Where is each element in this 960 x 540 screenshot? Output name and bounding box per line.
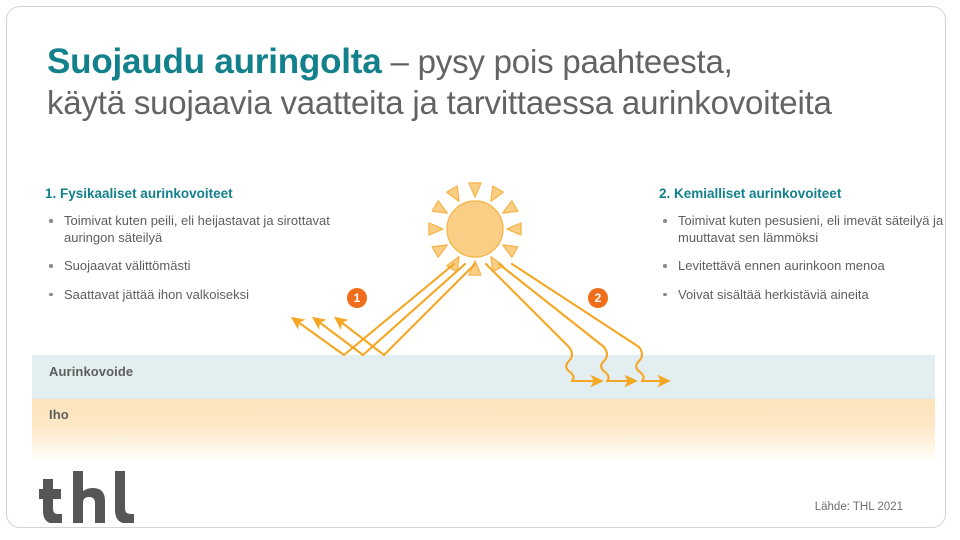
list-item: Saattavat jättää ihon valkoiseksi bbox=[45, 287, 330, 304]
list-item: Toimivat kuten peili, eli heijastavat ja… bbox=[45, 213, 330, 246]
reflected-ray-left-3 bbox=[341, 322, 384, 355]
reflected-ray-left-1 bbox=[298, 322, 344, 355]
incident-ray-right-3 bbox=[512, 264, 639, 347]
title-emphasis: Suojaudu auringolta bbox=[47, 42, 382, 81]
column-right-bullet-list: Toimivat kuten pesusieni, eli imevät sät… bbox=[659, 213, 944, 303]
skin-layer-label: Iho bbox=[49, 407, 69, 422]
title-remainder: – pysy pois paahteesta, bbox=[382, 43, 733, 80]
title-line-2: käytä suojaavia vaatteita ja tarvittaess… bbox=[47, 82, 927, 123]
incident-ray-left-1 bbox=[344, 264, 454, 355]
column-chemical-sunscreens: 2. Kemialliset aurinkovoiteet Toimivat k… bbox=[659, 185, 944, 315]
sunscreen-layer-label: Aurinkovoide bbox=[49, 364, 133, 379]
page-title: Suojaudu auringolta – pysy pois paahtees… bbox=[47, 41, 927, 123]
list-item: Voivat sisältää herkistäviä aineita bbox=[659, 287, 944, 304]
sun-icon bbox=[429, 183, 521, 275]
card-content-area: Suojaudu auringolta – pysy pois paahtees… bbox=[7, 7, 945, 527]
thl-logo bbox=[39, 469, 149, 523]
title-line-1: Suojaudu auringolta – pysy pois paahtees… bbox=[47, 41, 927, 82]
badge-number-1: 1 bbox=[347, 288, 367, 308]
infographic-canvas: Suojaudu auringolta – pysy pois paahtees… bbox=[0, 0, 960, 540]
incident-ray-right-1 bbox=[486, 264, 569, 347]
sunscreen-layer-band bbox=[32, 355, 935, 399]
incident-ray-left-3 bbox=[384, 264, 475, 355]
reflected-ray-left-2 bbox=[319, 322, 363, 355]
list-item: Levitettävä ennen aurinkoon menoa bbox=[659, 258, 944, 275]
incident-ray-left-2 bbox=[363, 264, 465, 355]
column-right-heading: 2. Kemialliset aurinkovoiteet bbox=[659, 185, 944, 203]
source-credit: Lähde: THL 2021 bbox=[815, 501, 903, 513]
list-item: Toimivat kuten pesusieni, eli imevät sät… bbox=[659, 213, 944, 246]
badge-number-2: 2 bbox=[588, 288, 608, 308]
incident-ray-right-2 bbox=[499, 264, 604, 347]
column-physical-sunscreens: 1. Fysikaaliset aurinkovoiteet Toimivat … bbox=[45, 185, 330, 315]
column-left-heading: 1. Fysikaaliset aurinkovoiteet bbox=[45, 185, 330, 203]
skin-layer-band bbox=[32, 399, 935, 461]
list-item: Suojaavat välittömästi bbox=[45, 258, 330, 275]
column-left-bullet-list: Toimivat kuten peili, eli heijastavat ja… bbox=[45, 213, 330, 303]
